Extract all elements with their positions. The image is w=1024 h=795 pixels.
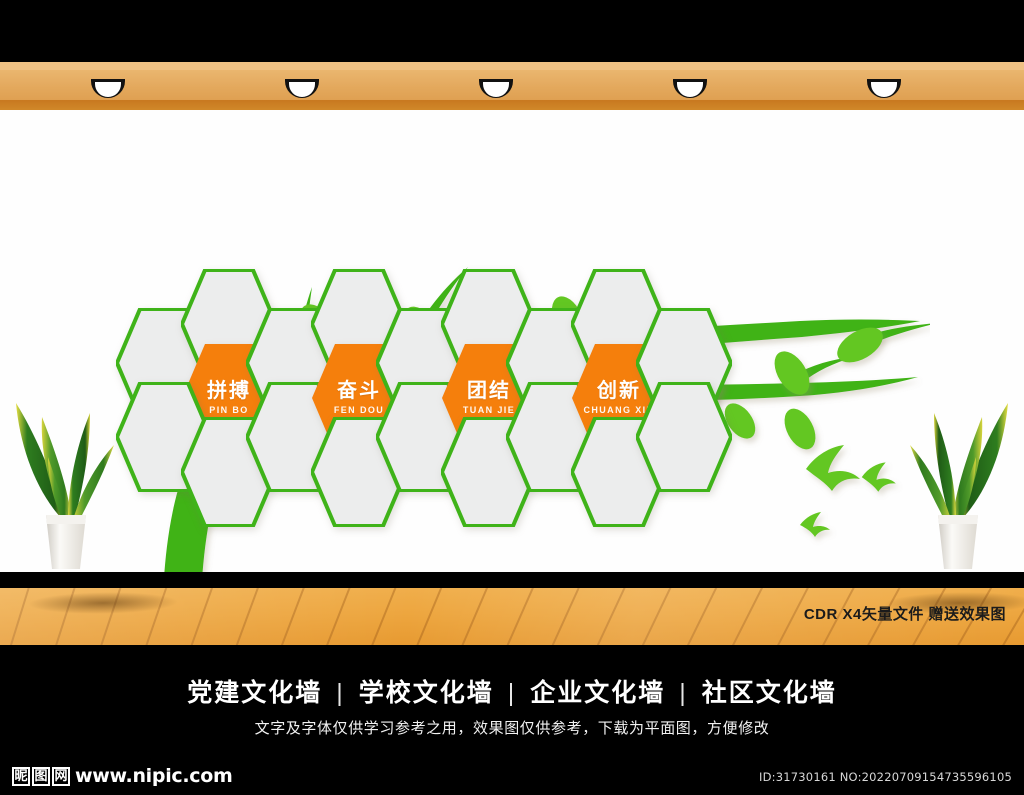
ceiling-lamp-4 [673,79,707,99]
tagline-separator: | [494,679,531,708]
potted-plant-left [6,387,126,572]
ceiling-lamp-1 [91,79,125,99]
cdr-note: CDR X4矢量文件 赠送效果图 [804,603,1006,624]
hex-cell[interactable] [636,382,732,492]
footer-bar: 昵图网 www.nipic.com ID:31730161 NO:2022070… [0,760,1024,795]
potted-plant-right [898,387,1018,572]
ceiling-lamp-3 [479,79,513,99]
site-url[interactable]: www.nipic.com [75,765,233,787]
ceiling-board-bottom [0,100,1024,110]
floor-skirting [0,572,1024,588]
honeycomb-grid: 拼搏 PIN BO 奋斗 FEN DOU 团结 TUAN JIE 创新 CHUA… [0,110,1024,572]
asset-id-text: ID:31730161 NO:20220709154735596105 [759,770,1012,784]
logo-char: 网 [52,767,70,786]
ceiling-rail [0,62,1024,110]
tagline-item: 学校文化墙 [359,679,494,707]
pot-shadow-left [20,592,185,614]
logo-char: 昵 [12,767,30,786]
tagline-separator: | [322,679,359,708]
tagline-item: 企业文化墙 [530,679,665,707]
tagline-item: 社区文化墙 [702,679,837,707]
tagline-item: 党建文化墙 [187,679,322,707]
ceiling-board-top [0,62,1024,70]
top-black-band [0,0,1024,62]
tagline-separator: | [665,679,702,708]
tagline-row: 党建文化墙|学校文化墙|企业文化墙|社区文化墙 [0,673,1024,709]
wall-surface: 拼搏 PIN BO 奋斗 FEN DOU 团结 TUAN JIE 创新 CHUA… [0,110,1024,572]
nipic-logo-icon: 昵图网 [12,767,70,786]
ceiling-lamp-2 [285,79,319,99]
site-brand[interactable]: 昵图网 www.nipic.com [12,765,233,787]
logo-char: 图 [32,767,50,786]
disclaimer-text: 文字及字体仅供学习参考之用，效果图仅供参考，下载为平面图，方便修改 [0,717,1024,738]
ceiling-lamp-5 [867,79,901,99]
